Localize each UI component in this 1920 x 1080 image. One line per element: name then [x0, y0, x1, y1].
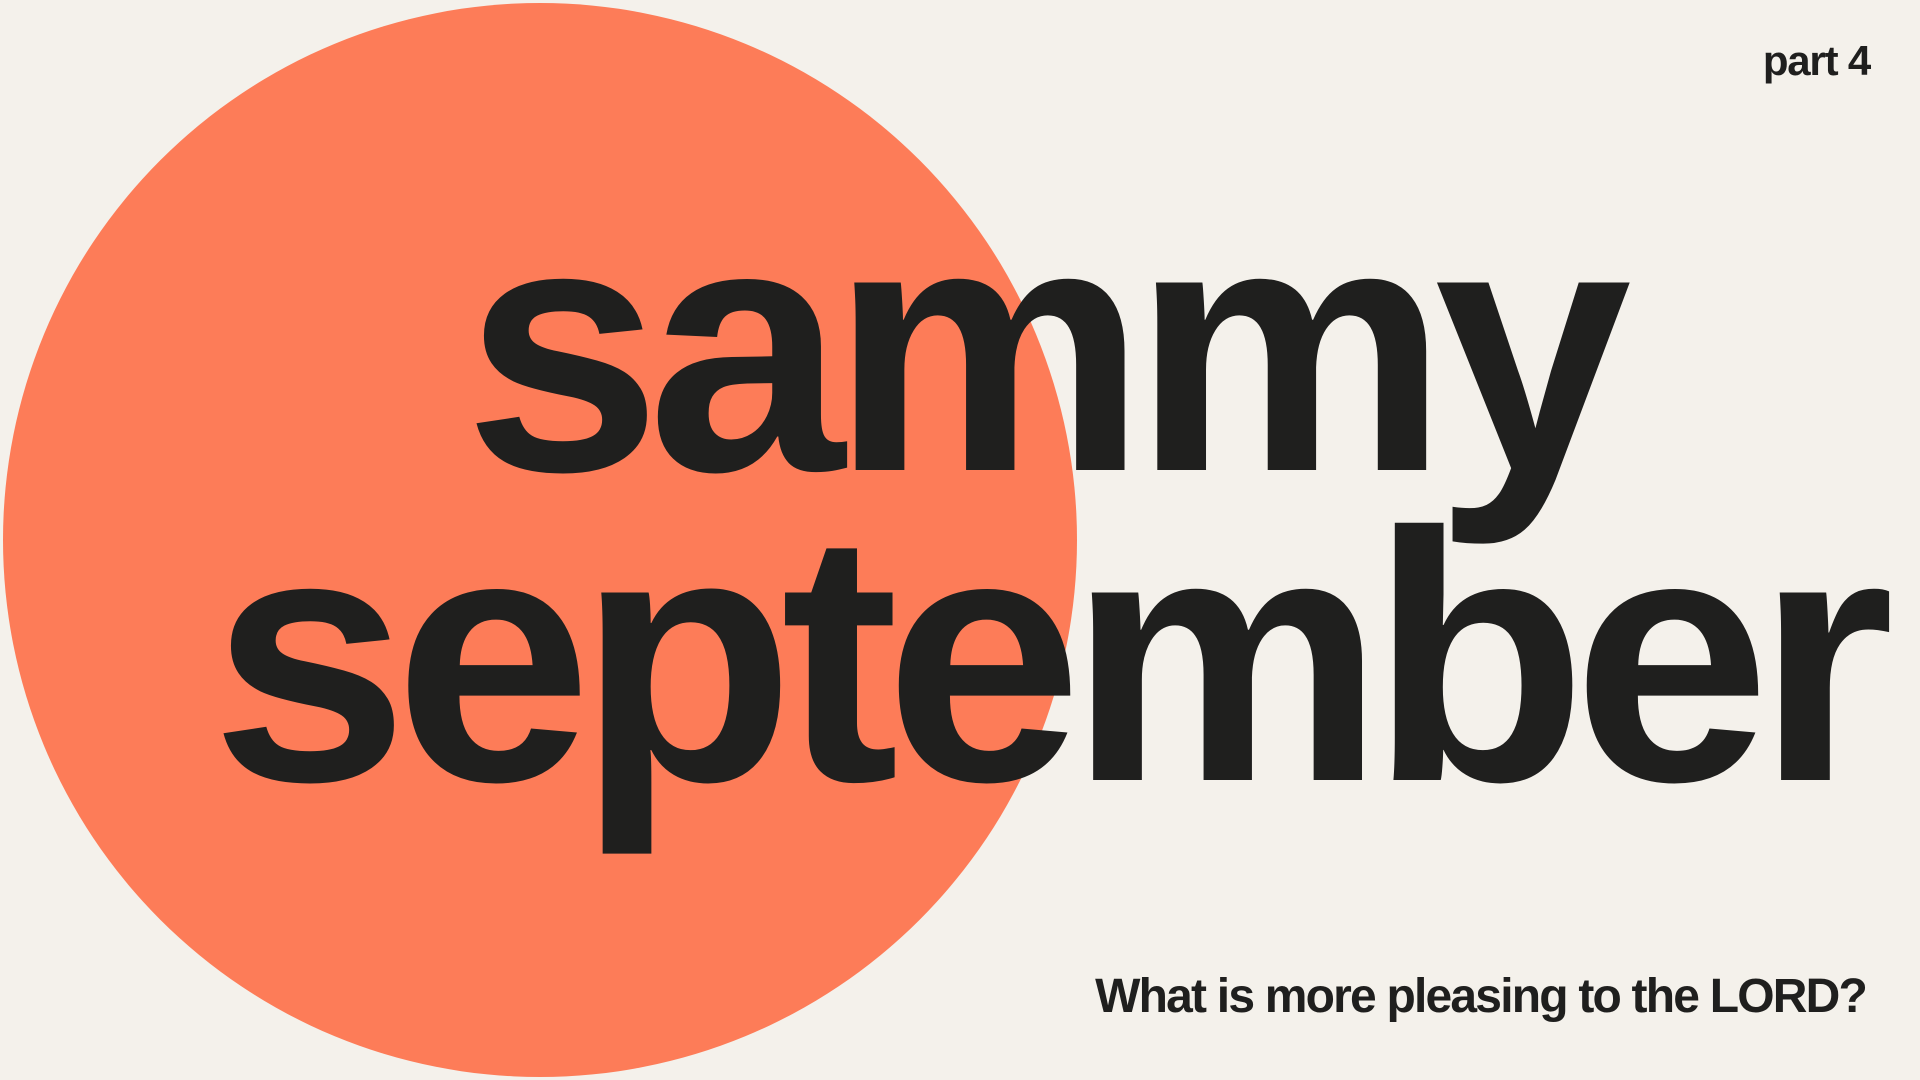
part-label: part 4 — [1763, 40, 1870, 82]
caption-question: What is more pleasing to the LORD? — [1095, 972, 1866, 1022]
title-line-sammy: sammy — [464, 196, 1618, 501]
title-line-september: september — [211, 506, 1880, 811]
slide-canvas: part 4 sammy september What is more plea… — [0, 0, 1920, 1080]
